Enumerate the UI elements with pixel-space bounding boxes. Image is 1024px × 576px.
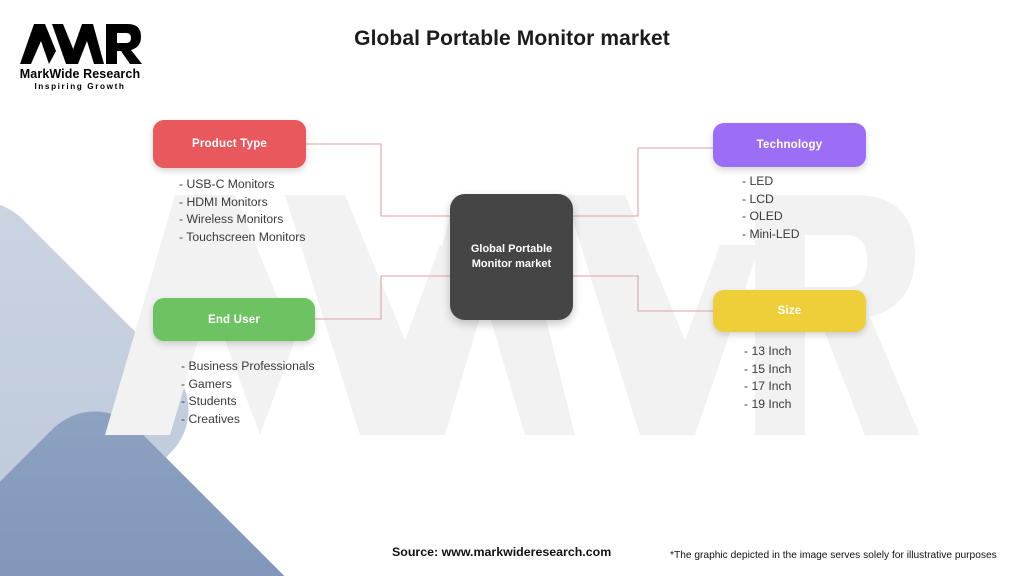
list-item: - 15 Inch [744, 361, 791, 379]
list-item: - 19 Inch [744, 396, 791, 414]
list-item: - LED [742, 173, 800, 191]
source-label: Source: www.markwideresearch.com [392, 545, 611, 559]
infographic-canvas: MarkWide Research Inspiring Growth Globa… [0, 0, 1024, 576]
list-item: - OLED [742, 208, 800, 226]
node-technology[interactable]: Technology [713, 123, 866, 167]
list-item: - Wireless Monitors [179, 211, 305, 229]
list-item: - LCD [742, 191, 800, 209]
list-item: - 17 Inch [744, 378, 791, 396]
node-size-label: Size [778, 305, 802, 317]
list-item: - 13 Inch [744, 343, 791, 361]
list-item: - USB-C Monitors [179, 176, 305, 194]
node-product-type[interactable]: Product Type [153, 120, 306, 168]
center-node-line-2: Monitor market [471, 257, 552, 272]
list-item: - Mini-LED [742, 226, 800, 244]
list-item: - Students [181, 393, 314, 411]
node-end-user[interactable]: End User [153, 298, 315, 341]
node-end-user-label: End User [208, 314, 260, 326]
center-node: Global Portable Monitor market [450, 194, 573, 320]
page-title: Global Portable Monitor market [0, 27, 1024, 51]
node-technology-label: Technology [757, 139, 823, 151]
list-item: - Creatives [181, 411, 314, 429]
item-list-product-type: - USB-C Monitors - HDMI Monitors - Wirel… [179, 176, 305, 246]
logo-tagline: Inspiring Growth [18, 82, 142, 91]
list-item: - Touchscreen Monitors [179, 229, 305, 247]
disclaimer-label: *The graphic depicted in the image serve… [670, 550, 997, 561]
list-item: - Gamers [181, 376, 314, 394]
node-size[interactable]: Size [713, 290, 866, 332]
node-product-type-label: Product Type [192, 138, 267, 150]
list-item: - Business Professionals [181, 358, 314, 376]
logo-company-name: MarkWide Research [18, 67, 142, 81]
item-list-technology: - LED - LCD - OLED - Mini-LED [742, 173, 800, 243]
item-list-size: - 13 Inch - 15 Inch - 17 Inch - 19 Inch [744, 343, 791, 413]
list-item: - HDMI Monitors [179, 194, 305, 212]
item-list-end-user: - Business Professionals - Gamers - Stud… [181, 358, 314, 428]
center-node-line-1: Global Portable [471, 242, 552, 257]
